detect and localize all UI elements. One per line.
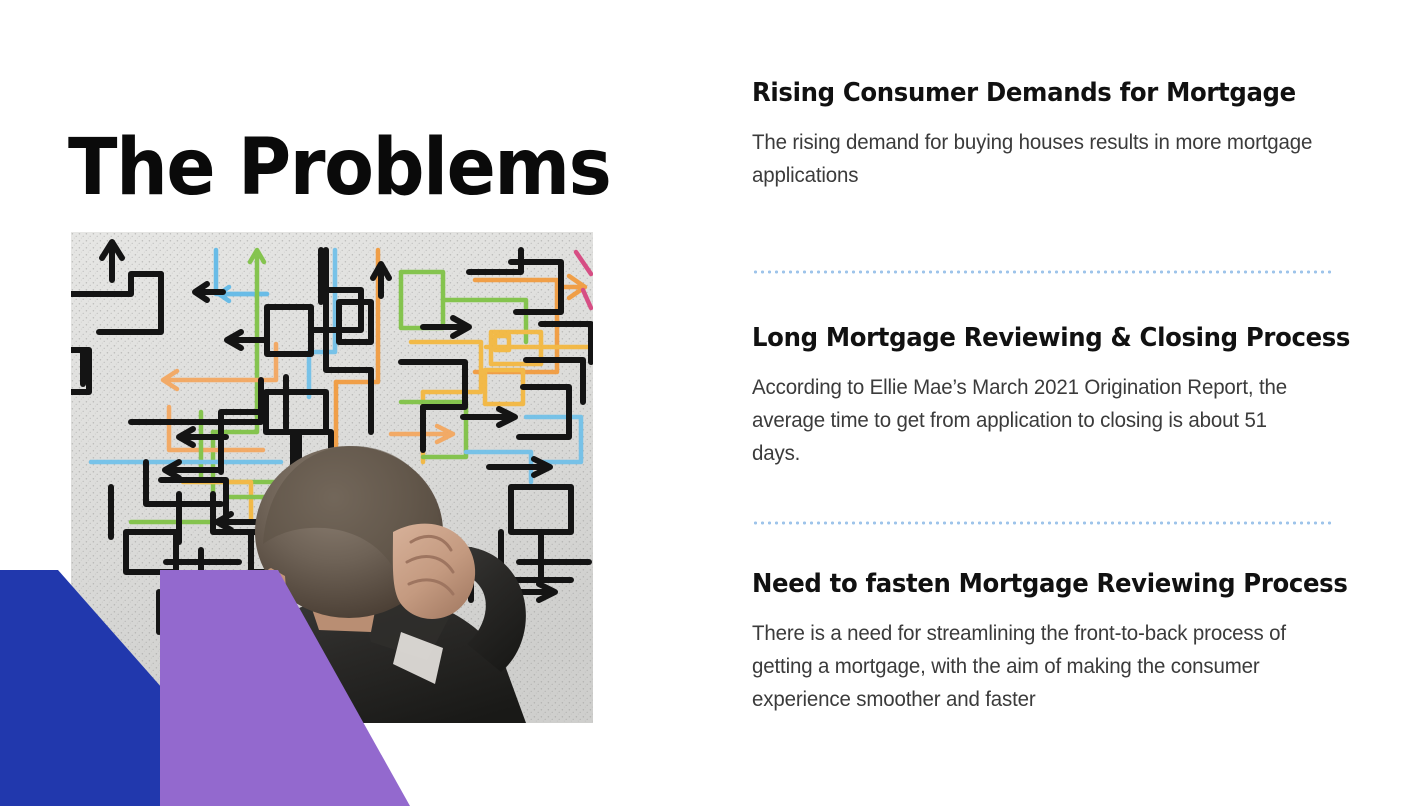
dotted-divider xyxy=(752,521,1331,525)
problem-body: According to Ellie Mae’s March 2021 Orig… xyxy=(752,371,1318,471)
problem-block-1: Rising Consumer Demands for Mortgage The… xyxy=(752,78,1332,192)
page-title: The Problems xyxy=(68,128,610,210)
problem-heading: Long Mortgage Reviewing & Closing Proces… xyxy=(752,323,1306,354)
dotted-divider xyxy=(752,270,1331,274)
problem-body: The rising demand for buying houses resu… xyxy=(752,126,1318,192)
problem-heading: Rising Consumer Demands for Mortgage xyxy=(752,78,1306,109)
left-column: The Problems xyxy=(0,0,710,806)
right-column: Rising Consumer Demands for Mortgage The… xyxy=(752,0,1332,806)
problem-block-3: Need to fasten Mortgage Reviewing Proces… xyxy=(752,569,1332,716)
confused-man-whiteboard-photo xyxy=(71,232,593,723)
problem-heading: Need to fasten Mortgage Reviewing Proces… xyxy=(752,569,1306,600)
slide-root: The Problems xyxy=(0,0,1426,806)
problem-block-2: Long Mortgage Reviewing & Closing Proces… xyxy=(752,323,1332,470)
problem-body: There is a need for streamlining the fro… xyxy=(752,617,1318,717)
